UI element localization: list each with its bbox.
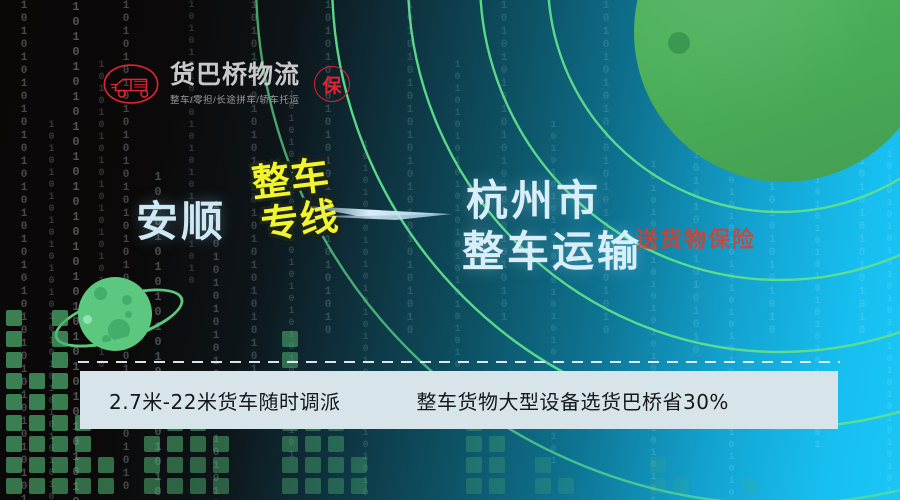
pixel-cell (144, 457, 160, 473)
route-stamp: 整车 专线 (250, 154, 372, 272)
origin-city: 安顺 (136, 188, 226, 249)
pixel-cell (466, 436, 482, 452)
pixel-cell (650, 457, 666, 473)
pixel-cell (282, 478, 298, 494)
binary-column: 1010101010101010101010101010101010101010… (18, 0, 29, 470)
pixel-cell (98, 478, 114, 494)
pixel-cell (98, 457, 114, 473)
pixel-cell (190, 478, 206, 494)
pixel-cell (489, 436, 505, 452)
destination-line-1: 杭州市 (466, 175, 642, 226)
pixel-cell (282, 352, 298, 368)
pixel-cell (144, 478, 160, 494)
pixel-cell (351, 478, 367, 494)
insurance-badge: 保 (314, 66, 350, 102)
stamp-line-2: 专线 (259, 196, 369, 245)
promo-banner: 1010101010101010101010101010101010101010… (0, 0, 900, 500)
brand-name: 货巴桥物流 (170, 62, 300, 88)
destination-line-2: 整车运输 (462, 226, 642, 277)
pixel-cell (6, 457, 22, 473)
pixel-cell (29, 457, 45, 473)
binary-column: 10101010101010101010101010101010 (46, 120, 56, 450)
pixel-cell (742, 478, 758, 494)
binary-column: 10101010101010101010101010 (404, 0, 415, 300)
brand-logo[interactable]: 货巴桥物流 整车/零担/长途拼车/轿车托运 保 (100, 62, 350, 106)
pixel-cell (673, 478, 689, 494)
planet-shading (634, 0, 900, 182)
pixel-cell (328, 436, 344, 452)
pixel-cell (489, 457, 505, 473)
planet-green-large (634, 0, 900, 182)
pixel-cell (282, 436, 298, 452)
pixel-cell (282, 331, 298, 347)
pixel-cell (29, 478, 45, 494)
pixel-cell (29, 394, 45, 410)
pixel-cell (213, 478, 229, 494)
pixel-cell (52, 394, 68, 410)
pixel-cell (52, 373, 68, 389)
pixel-cell (650, 478, 666, 494)
pixel-cell (6, 331, 22, 347)
pixel-cell (52, 478, 68, 494)
pixel-cell (29, 415, 45, 431)
binary-column: 1010101010101010101010101010101 (452, 60, 462, 380)
pixel-cell (6, 478, 22, 494)
pixel-cell (6, 352, 22, 368)
pixel-cell (144, 436, 160, 452)
pixel-cell (75, 457, 91, 473)
pixel-cell (190, 436, 206, 452)
pixel-cell (213, 457, 229, 473)
pixel-cell (167, 457, 183, 473)
pixel-cell (305, 478, 321, 494)
stamp-line-1: 整车 (250, 154, 364, 204)
pixel-cell (6, 310, 22, 326)
pixel-cell (489, 478, 505, 494)
crater (668, 32, 690, 54)
pixel-cell (213, 436, 229, 452)
pixel-cell (52, 457, 68, 473)
pixel-cell (75, 478, 91, 494)
pixel-cell (190, 457, 206, 473)
insurance-slogan: 送货物保险 (636, 222, 756, 254)
pixel-cell (52, 436, 68, 452)
dashed-divider (78, 361, 840, 363)
destination-city: 杭州市 整车运输 (466, 175, 642, 277)
pixel-cell (167, 436, 183, 452)
footer-text-left: 2.7米-22米货车随时调派 (109, 386, 340, 415)
pixel-cell (535, 478, 551, 494)
pixel-cell (29, 436, 45, 452)
pixel-cell (52, 415, 68, 431)
pixel-cell (6, 394, 22, 410)
pixel-cell (466, 478, 482, 494)
pixel-cell (305, 457, 321, 473)
pixel-cell (282, 457, 298, 473)
pixel-cell (6, 436, 22, 452)
brand-tagline: 整车/零担/长途拼车/轿车托运 (170, 92, 300, 106)
pixel-cell (535, 457, 551, 473)
pixel-cell (328, 478, 344, 494)
pixel-cell (351, 457, 367, 473)
pixel-cell (6, 415, 22, 431)
binary-column: 10101010101010101010101010101 (884, 150, 894, 450)
pixel-cell (558, 478, 574, 494)
pixel-cell (328, 457, 344, 473)
pixel-cell (6, 373, 22, 389)
pixel-cell (29, 373, 45, 389)
truck-outline-icon (100, 62, 162, 106)
pixel-cell (305, 436, 321, 452)
footer-text-right: 整车货物大型设备选货巴桥省30% (416, 386, 728, 415)
pixel-cell (75, 436, 91, 452)
pixel-cell (466, 457, 482, 473)
footer-bar: 2.7米-22米货车随时调派 整车货物大型设备选货巴桥省30% (80, 371, 838, 429)
pixel-cell (52, 352, 68, 368)
pixel-cell (167, 478, 183, 494)
